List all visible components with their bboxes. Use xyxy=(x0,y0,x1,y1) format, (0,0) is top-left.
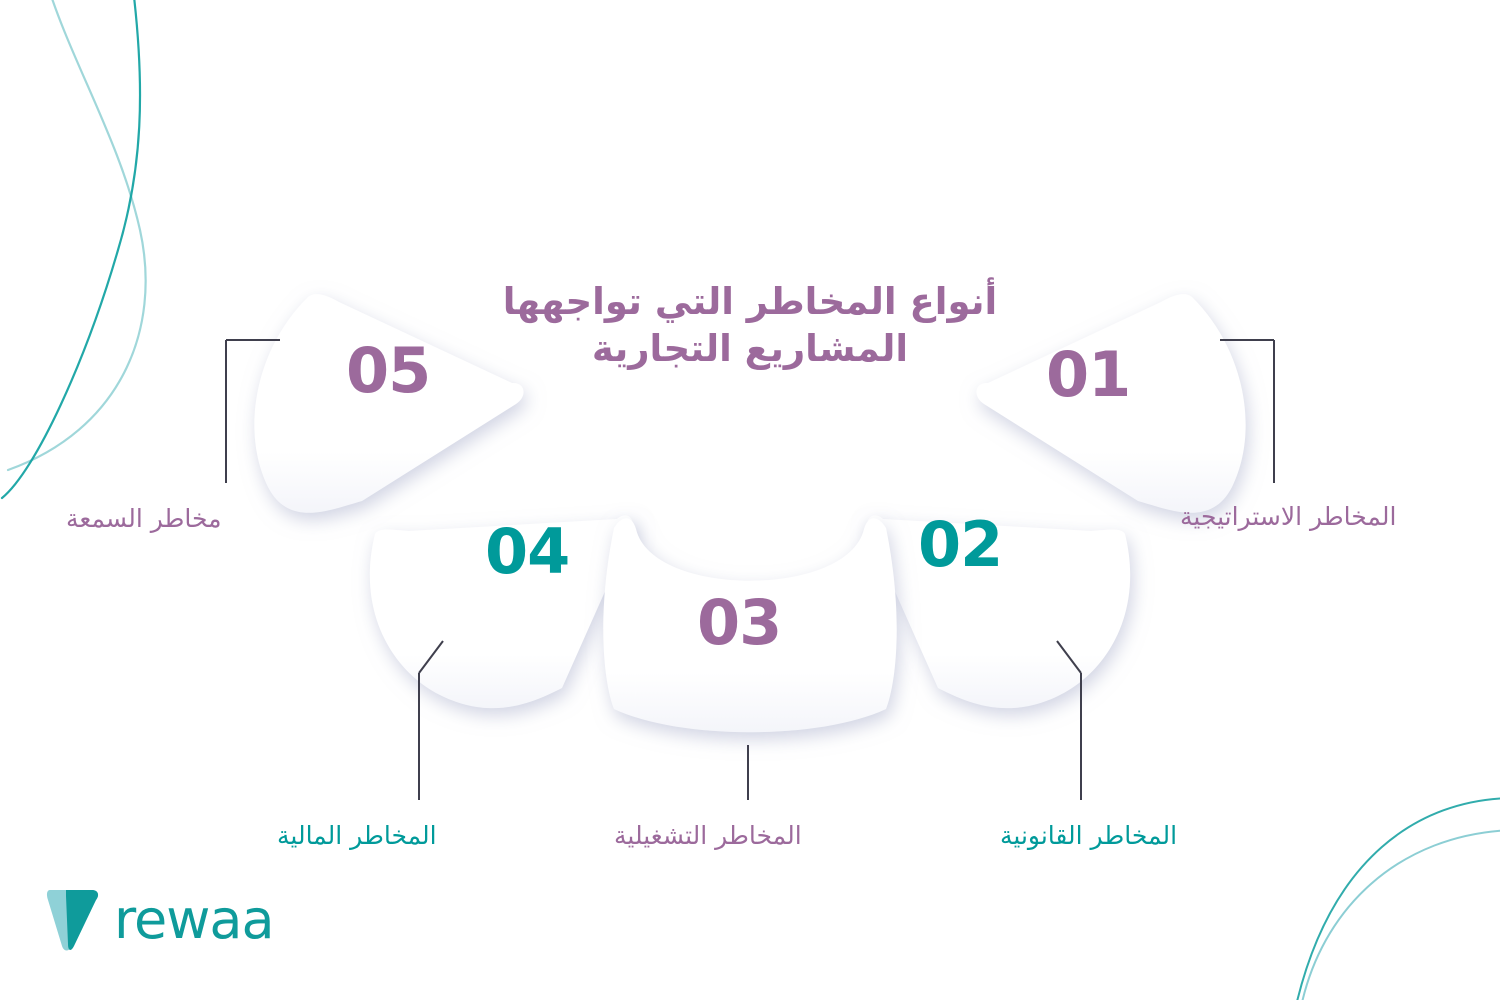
segment-label-financial-risks: المخاطر المالية xyxy=(277,823,437,848)
segment-number-05: 05 xyxy=(346,340,430,402)
infographic-canvas: أنواع المخاطر التي تواجهها المشاريع التج… xyxy=(0,0,1500,1000)
segment-number-01: 01 xyxy=(1046,344,1130,406)
connector-04 xyxy=(419,641,443,800)
page-title: أنواع المخاطر التي تواجهها المشاريع التج… xyxy=(450,278,1050,373)
segment-label-strategic-risks: المخاطر الاستراتيجية xyxy=(1180,504,1396,529)
segment-number-02: 02 xyxy=(918,514,1002,576)
segment-label-operational-risks: المخاطر التشغيلية xyxy=(614,823,802,848)
segment-label-reputation-risks: مخاطر السمعة xyxy=(66,506,222,531)
segment-number-04: 04 xyxy=(485,521,569,583)
connector-lines xyxy=(0,0,1500,1000)
rewaa-wordmark: rewaa xyxy=(114,893,274,947)
segment-label-legal-risks: المخاطر القانونية xyxy=(1000,823,1177,848)
segment-number-03: 03 xyxy=(697,592,781,654)
connector-05 xyxy=(226,340,280,483)
connector-02 xyxy=(1057,641,1081,800)
rewaa-funnel-mark-icon xyxy=(46,884,108,956)
rewaa-logo: rewaa xyxy=(46,884,274,956)
connector-01 xyxy=(1220,340,1274,483)
